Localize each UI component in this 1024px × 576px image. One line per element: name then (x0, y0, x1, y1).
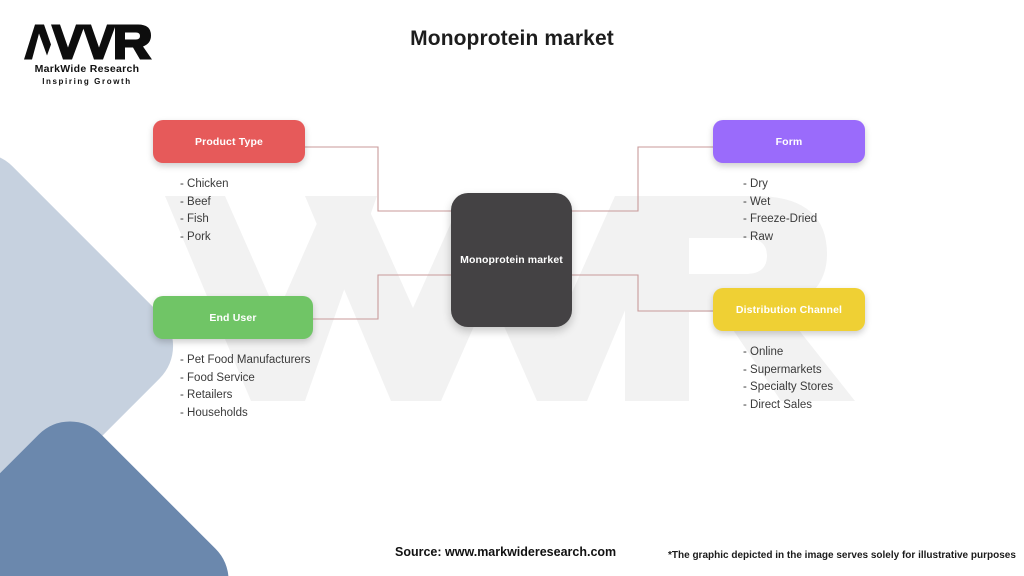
category-label-product-type: Product Type (195, 136, 263, 148)
category-label-distribution-channel: Distribution Channel (736, 304, 842, 316)
list-item: - Households (180, 405, 313, 423)
connector-product-type (305, 147, 452, 211)
category-list-product-type: - Chicken - Beef - Fish - Pork (153, 176, 305, 246)
list-item: - Pork (180, 229, 305, 247)
list-item: - Specialty Stores (743, 379, 865, 397)
category-chip-end-user[interactable]: End User (153, 296, 313, 339)
list-item: - Retailers (180, 387, 313, 405)
list-item: - Supermarkets (743, 362, 865, 380)
list-item: - Direct Sales (743, 397, 865, 415)
category-distribution-channel: Distribution Channel - Online - Supermar… (713, 288, 865, 414)
list-item: - Pet Food Manufacturers (180, 352, 313, 370)
category-chip-product-type[interactable]: Product Type (153, 120, 305, 163)
footer-disclaimer: *The graphic depicted in the image serve… (668, 550, 1016, 561)
center-node[interactable]: Monoprotein market (451, 193, 572, 327)
list-item: - Food Service (180, 370, 313, 388)
slide-canvas: MarkWide Research Inspiring Growth Monop… (0, 0, 1024, 576)
list-item: - Dry (743, 176, 865, 194)
connector-end-user (313, 275, 452, 319)
center-node-label: Monoprotein market (460, 254, 563, 266)
connector-distribution-channel (571, 275, 713, 311)
category-list-distribution-channel: - Online - Supermarkets - Specialty Stor… (713, 344, 865, 414)
category-list-form: - Dry - Wet - Freeze-Dried - Raw (713, 176, 865, 246)
category-chip-distribution-channel[interactable]: Distribution Channel (713, 288, 865, 331)
list-item: - Fish (180, 211, 305, 229)
category-label-end-user: End User (209, 312, 256, 324)
connector-form (571, 147, 713, 211)
category-label-form: Form (776, 136, 803, 148)
category-list-end-user: - Pet Food Manufacturers - Food Service … (153, 352, 313, 422)
list-item: - Raw (743, 229, 865, 247)
list-item: - Beef (180, 194, 305, 212)
list-item: - Freeze-Dried (743, 211, 865, 229)
category-form: Form - Dry - Wet - Freeze-Dried - Raw (713, 120, 865, 246)
category-product-type: Product Type - Chicken - Beef - Fish - P… (153, 120, 305, 246)
category-end-user: End User - Pet Food Manufacturers - Food… (153, 296, 313, 422)
list-item: - Chicken (180, 176, 305, 194)
list-item: - Online (743, 344, 865, 362)
footer-source: Source: www.markwideresearch.com (395, 545, 616, 559)
list-item: - Wet (743, 194, 865, 212)
category-chip-form[interactable]: Form (713, 120, 865, 163)
